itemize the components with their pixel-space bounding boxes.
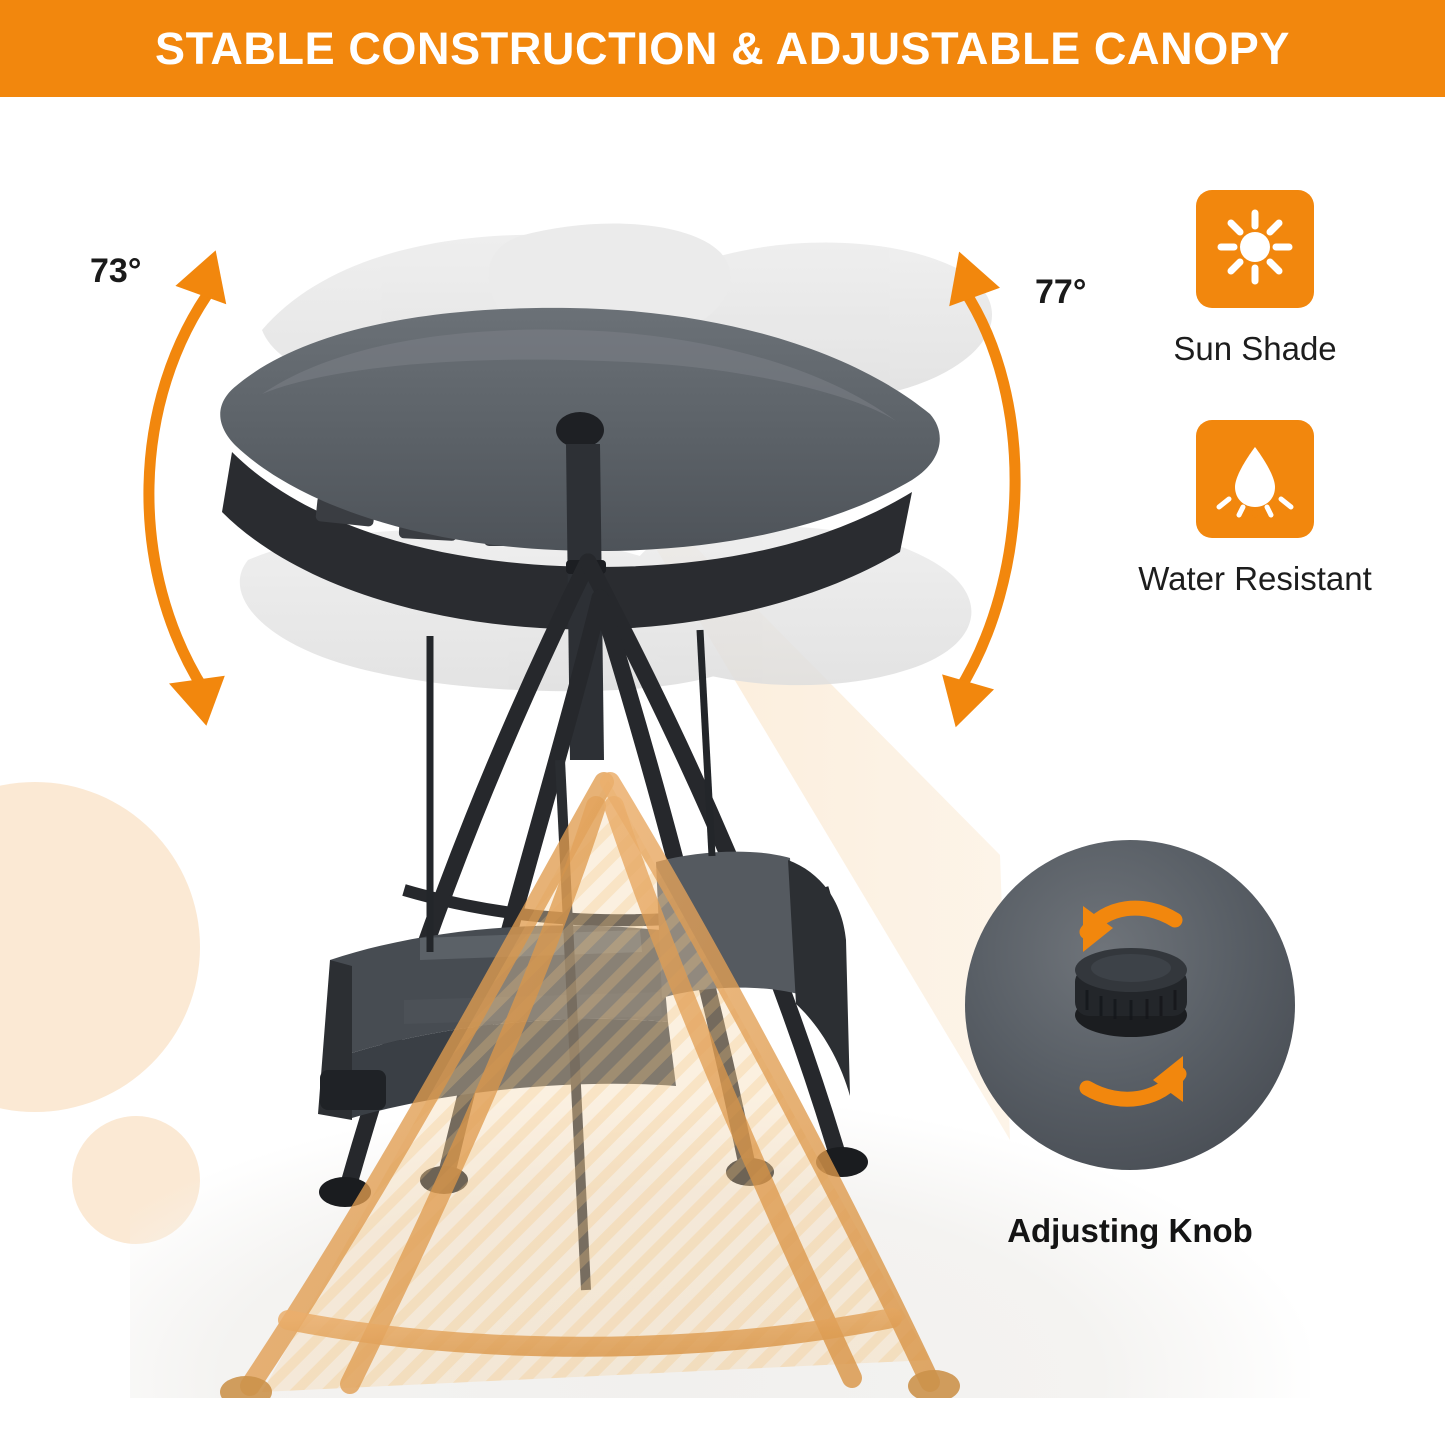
decorative-blob-large — [0, 782, 200, 1112]
floor-strip — [0, 1398, 1445, 1445]
sun-shade-badge — [1196, 190, 1314, 308]
feature-label-sun-shade: Sun Shade — [1173, 330, 1336, 368]
callout-beam — [580, 430, 1010, 1140]
steel-frame — [350, 562, 836, 1180]
angle-arc-right — [958, 290, 1015, 692]
knob-body — [1075, 948, 1187, 1037]
product-feature-image: 73° 77° — [0, 0, 1445, 1445]
water-resistant-badge — [1196, 420, 1314, 538]
swing-chains — [430, 630, 712, 952]
canopy-knob — [556, 412, 604, 448]
feature-water-resistant: Water Resistant — [1090, 420, 1420, 598]
canopy-top — [220, 308, 940, 551]
angle-arc-left — [149, 285, 214, 690]
feature-sun-shade: Sun Shade — [1090, 190, 1420, 368]
canopy-underside — [222, 452, 912, 629]
angle-label-left: 73° — [90, 252, 141, 291]
knob-callout — [965, 840, 1295, 1170]
center-mast — [566, 444, 604, 760]
knob-callout-label: Adjusting Knob — [940, 1212, 1320, 1250]
angle-arrowhead-left-bottom — [169, 670, 235, 732]
canopy-top-highlight — [262, 330, 900, 424]
swing-bench — [318, 852, 850, 1120]
sun-icon — [1213, 205, 1297, 294]
page-title: STABLE CONSTRUCTION & ADJUSTABLE CANOPY — [155, 23, 1290, 75]
angle-arrowhead-right-top — [933, 243, 1000, 307]
knob-magnifier-circle — [965, 840, 1295, 1170]
frame-cross-brace — [404, 890, 830, 920]
canopy-ghost-positions — [240, 223, 992, 691]
angle-arrowhead-right-bottom — [930, 674, 994, 734]
feature-label-water-resistant: Water Resistant — [1138, 560, 1372, 598]
angle-arrowhead-left-top — [175, 241, 243, 306]
mast-joint — [566, 560, 606, 574]
angle-label-right: 77° — [1035, 273, 1086, 312]
header-banner: STABLE CONSTRUCTION & ADJUSTABLE CANOPY — [0, 0, 1445, 97]
canopy-slats — [315, 469, 861, 546]
water-drop-icon — [1213, 435, 1297, 524]
